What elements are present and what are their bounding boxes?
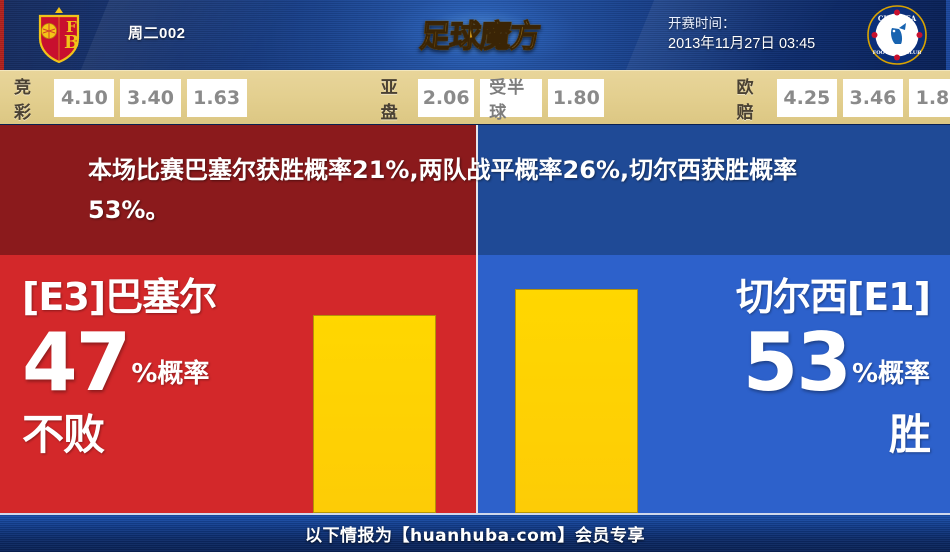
summary-banner: 本场比赛巴塞尔获胜概率21%,两队战平概率26%,切尔西获胜概率53%。 (0, 125, 950, 255)
probability-value-away: 53 (743, 325, 850, 401)
basel-crest-icon: F B (28, 4, 90, 66)
svg-text:B: B (64, 32, 79, 53)
odds-value-jingcai-away[interactable]: 1.63 (187, 79, 247, 117)
footer-bar: 以下情报为【huanhuba.com】会员专享 (0, 513, 950, 552)
outcome-label-away: 胜 (736, 409, 930, 461)
probability-bar-chart: [E3]巴塞尔 47 %概率 不败 切尔西[E1] 53 %概率 胜 (0, 255, 950, 513)
odds-group-label: 亚盘 (381, 73, 410, 123)
chart-center-divider (476, 255, 478, 513)
probability-row-home: 47 %概率 (22, 325, 216, 401)
header-diagonal-sheen-left (81, 0, 349, 70)
odds-group-jingcai: 竞彩 4.10 3.40 1.63 (14, 73, 253, 123)
match-preview-infographic: F B 周二002 足球魔方 开赛时间： 2013年11月27日 03:45 C… (0, 0, 950, 552)
bar-home-probability (313, 315, 436, 513)
probability-value-home: 47 (22, 325, 129, 401)
svg-text:FOOTBALL CLUB: FOOTBALL CLUB (873, 50, 922, 56)
header-left-edge-accent (0, 0, 4, 70)
odds-value-asian-home[interactable]: 2.06 (418, 79, 474, 117)
odds-group-label: 竞彩 (14, 73, 46, 123)
probability-suffix-home: %概率 (129, 357, 209, 401)
chelsea-crest-icon: CHELSEA FOOTBALL CLUB (866, 4, 928, 66)
probability-suffix-away: %概率 (850, 357, 930, 401)
odds-bar: 竞彩 4.10 3.40 1.63 亚盘 2.06 受半球 1.80 欧赔 4.… (0, 70, 950, 124)
brand-wordmark-text: 足球魔方 (418, 11, 542, 56)
odds-value-euro-draw[interactable]: 3.46 (843, 79, 903, 117)
bar-away-probability (515, 289, 638, 513)
odds-value-jingcai-draw[interactable]: 3.40 (120, 79, 180, 117)
kickoff-value: 2013年11月27日 03:45 (668, 34, 815, 55)
kickoff-label: 开赛时间： (668, 13, 815, 34)
probability-row-away: 53 %概率 (736, 325, 930, 401)
svg-text:CHELSEA: CHELSEA (878, 14, 917, 23)
odds-value-euro-home[interactable]: 4.25 (777, 79, 837, 117)
brand-wordmark: 足球魔方 (410, 10, 550, 56)
odds-value-asian-away[interactable]: 1.80 (548, 79, 604, 117)
odds-group-yapan: 亚盘 2.06 受半球 1.80 (381, 73, 611, 123)
odds-group-oupei: 欧赔 4.25 3.46 1.84 (736, 73, 950, 123)
match-number: 周二002 (128, 22, 186, 43)
odds-value-euro-away[interactable]: 1.84 (909, 79, 950, 117)
team-block-away: 切尔西[E1] 53 %概率 胜 (736, 273, 930, 461)
kickoff-time-block: 开赛时间： 2013年11月27日 03:45 (668, 13, 815, 55)
odds-value-jingcai-home[interactable]: 4.10 (54, 79, 114, 117)
team-name-away: 切尔西[E1] (736, 273, 930, 321)
header-bar: F B 周二002 足球魔方 开赛时间： 2013年11月27日 03:45 C… (0, 0, 950, 70)
footer-membership-notice: 以下情报为【huanhuba.com】会员专享 (305, 521, 645, 546)
odds-group-label: 欧赔 (736, 73, 768, 123)
summary-text: 本场比赛巴塞尔获胜概率21%,两队战平概率26%,切尔西获胜概率53%。 (88, 150, 878, 230)
odds-value-asian-handicap[interactable]: 受半球 (480, 79, 542, 117)
header-right-edge-accent (946, 0, 950, 70)
team-name-home: [E3]巴塞尔 (22, 273, 216, 321)
outcome-label-home: 不败 (22, 409, 216, 461)
team-block-home: [E3]巴塞尔 47 %概率 不败 (22, 273, 216, 461)
